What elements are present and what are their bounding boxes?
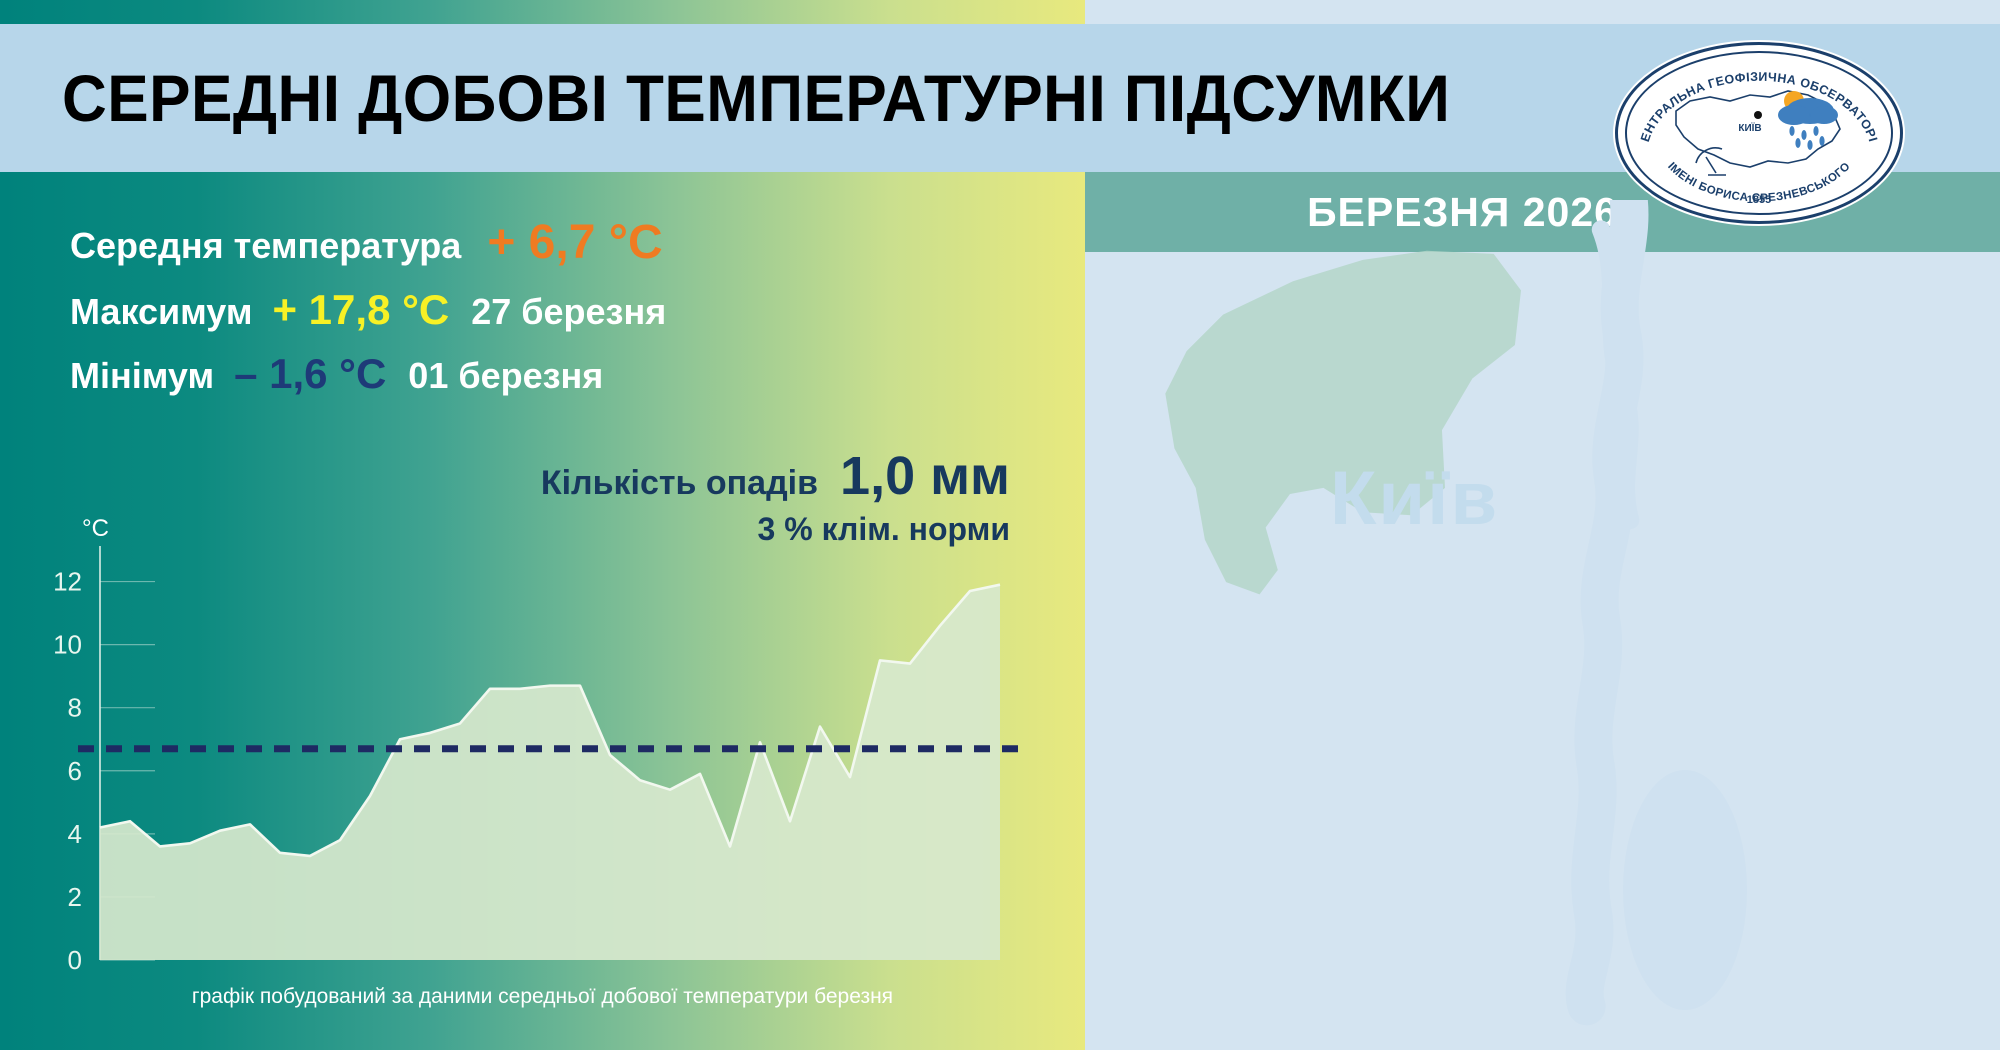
- average-label: Середня температура: [70, 225, 461, 267]
- precipitation-value: 1,0 мм: [840, 445, 1010, 507]
- average-value: + 6,7 °C: [487, 215, 662, 270]
- river-reservoir: [1623, 770, 1747, 1010]
- logo-city-label: КИЇВ: [1738, 121, 1761, 134]
- stat-row-average: Середня температура + 6,7 °C: [70, 215, 1085, 270]
- kyiv-city-label: Київ: [1330, 455, 1499, 542]
- logo-graphic: ЦЕНТРАЛЬНА ГЕОФІЗИЧНА ОБСЕРВАТОРІЯ ІМЕНІ…: [1618, 45, 1900, 221]
- chart-ytick-label: 10: [53, 630, 82, 660]
- chart-ytick-label: 2: [68, 882, 82, 912]
- minimum-date: 01 березня: [408, 355, 603, 397]
- chart-area-fill: [100, 585, 1000, 960]
- minimum-label: Мінімум: [70, 355, 214, 397]
- chart-ytick-label: 6: [68, 756, 82, 786]
- precipitation-label: Кількість опадів: [541, 464, 818, 503]
- raindrops-icon: [1789, 126, 1824, 150]
- chart-ytick-label: 8: [68, 693, 82, 723]
- chart-caption: графік побудований за даними середньої д…: [0, 985, 1085, 1009]
- stats-block: Середня температура + 6,7 °C Максимум + …: [0, 215, 1085, 414]
- maximum-value: + 17,8 °C: [272, 286, 449, 334]
- chart-ytick-label: 0: [68, 945, 82, 975]
- kyiv-dot-icon: [1754, 111, 1762, 119]
- temperature-chart: °C 024681012: [0, 520, 1085, 980]
- maximum-date: 27 березня: [471, 291, 666, 333]
- chart-ytick-label: 4: [68, 819, 82, 849]
- kyiv-map: [1085, 200, 2000, 1050]
- chart-svg: 024681012: [0, 520, 1085, 980]
- kyiv-region-shape: [1165, 251, 1521, 595]
- kyiv-map-svg: [1085, 200, 2000, 1050]
- stat-row-minimum: Мінімум – 1,6 °C 01 березня: [70, 350, 1085, 398]
- maximum-label: Максимум: [70, 291, 252, 333]
- stat-row-maximum: Максимум + 17,8 °C 27 березня: [70, 286, 1085, 334]
- page-title: СЕРЕДНІ ДОБОВІ ТЕМПЕРАТУРНІ ПІДСУМКИ: [62, 60, 1450, 136]
- infographic-root: СЕРЕДНІ ДОБОВІ ТЕМПЕРАТУРНІ ПІДСУМКИ БЕР…: [0, 0, 2000, 1050]
- observatory-logo: ЦЕНТРАЛЬНА ГЕОФІЗИЧНА ОБСЕРВАТОРІЯ ІМЕНІ…: [1615, 42, 1903, 224]
- minimum-value: – 1,6 °C: [234, 350, 386, 398]
- chart-ytick-label: 12: [53, 567, 82, 597]
- radar-dish-icon: [1696, 148, 1726, 175]
- precipitation-line: Кількість опадів 1,0 мм: [0, 445, 1010, 507]
